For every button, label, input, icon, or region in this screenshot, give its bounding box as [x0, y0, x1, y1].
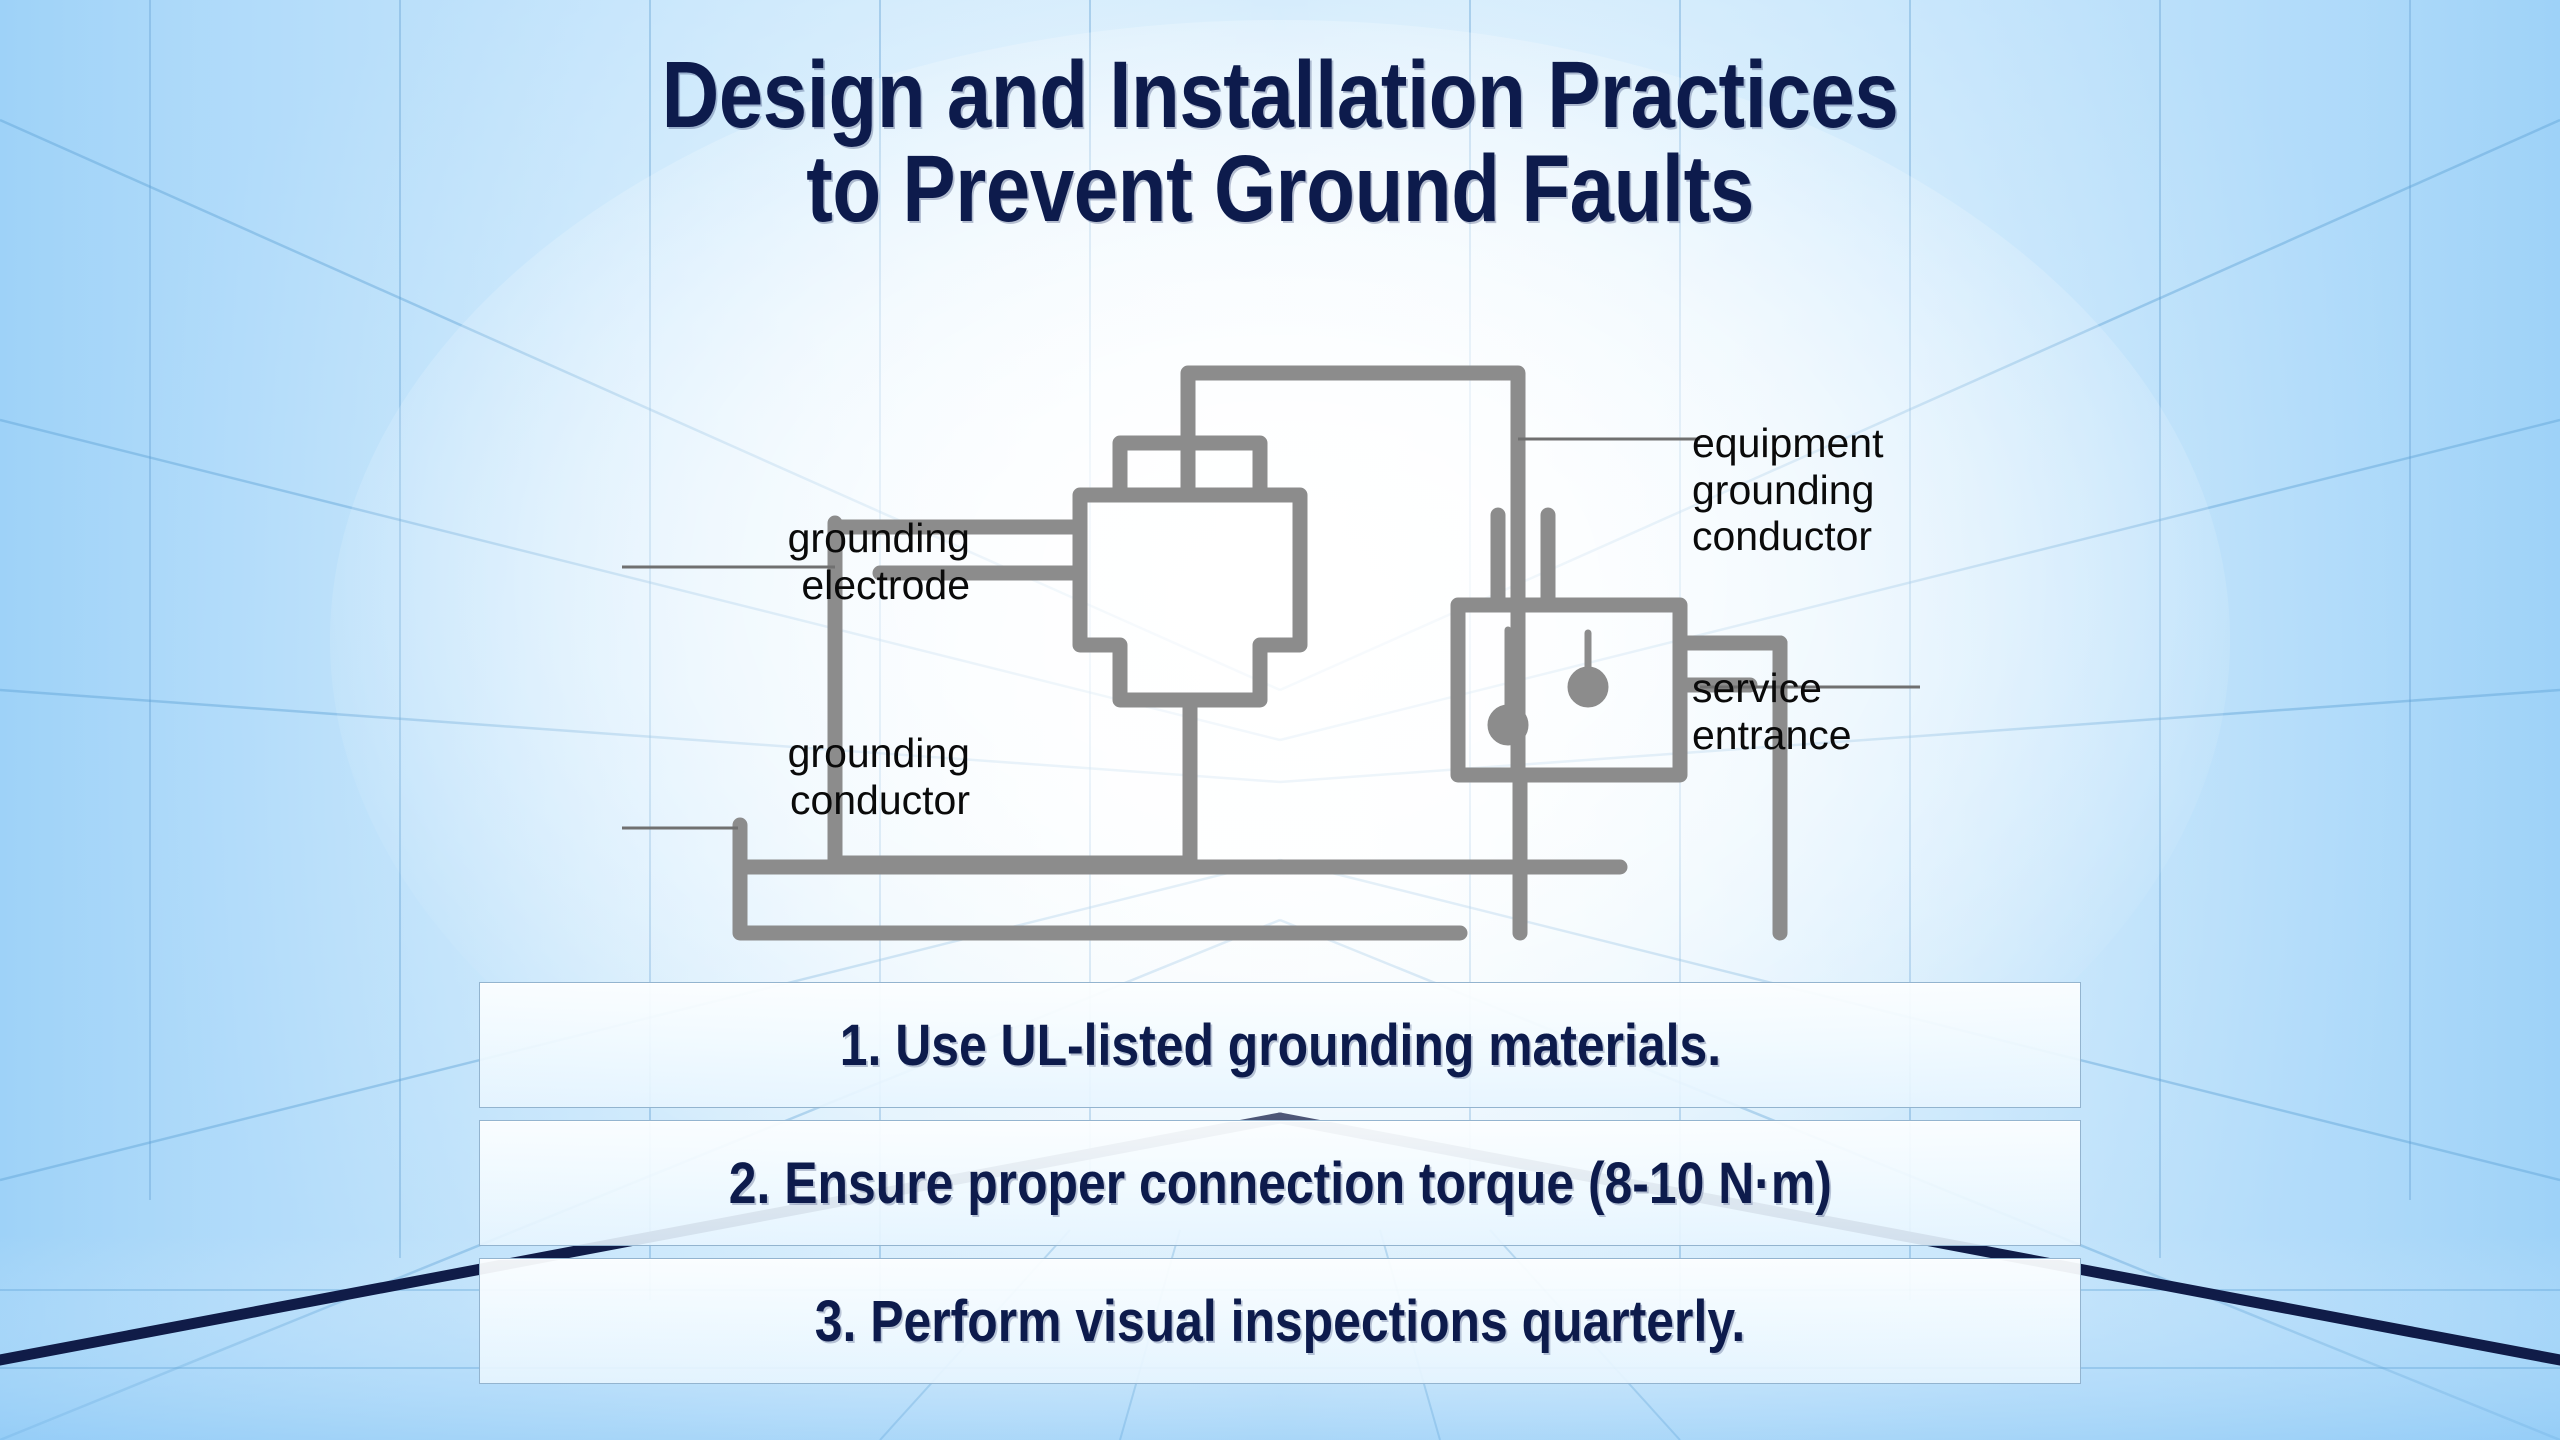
- practice-item-2-label: 2. Ensure proper connection torque (8-10…: [728, 1150, 1831, 1217]
- practice-item-1-label: 1. Use UL-listed grounding materials.: [839, 1012, 1720, 1079]
- label-grounding-conductor: grounding conductor: [640, 730, 970, 823]
- practice-item-3[interactable]: 3. Perform visual inspections quarterly.: [479, 1258, 2081, 1384]
- conduit-top-path: [1188, 373, 1518, 775]
- ground-loop-left: [740, 825, 1460, 933]
- slide-canvas: Design and Installation Practices to Pre…: [0, 0, 2560, 1440]
- label-service-entrance: service entrance: [1692, 665, 2092, 758]
- meter-body: [1080, 495, 1300, 700]
- practice-item-3-label: 3. Perform visual inspections quarterly.: [815, 1288, 1745, 1355]
- practice-item-1[interactable]: 1. Use UL-listed grounding materials.: [479, 982, 2081, 1108]
- practices-list: 1. Use UL-listed grounding materials. 2.…: [0, 982, 2560, 1396]
- label-equipment-grounding-conductor: equipment grounding conductor: [1692, 420, 2092, 560]
- breaker-levers: [1491, 630, 1605, 742]
- title-line-1: Design and Installation Practices: [205, 48, 2355, 142]
- title-line-2: to Prevent Ground Faults: [205, 142, 2355, 236]
- page-title: Design and Installation Practices to Pre…: [0, 48, 2560, 236]
- label-grounding-electrode: grounding electrode: [640, 515, 970, 608]
- practice-item-2[interactable]: 2. Ensure proper connection torque (8-10…: [479, 1120, 2081, 1246]
